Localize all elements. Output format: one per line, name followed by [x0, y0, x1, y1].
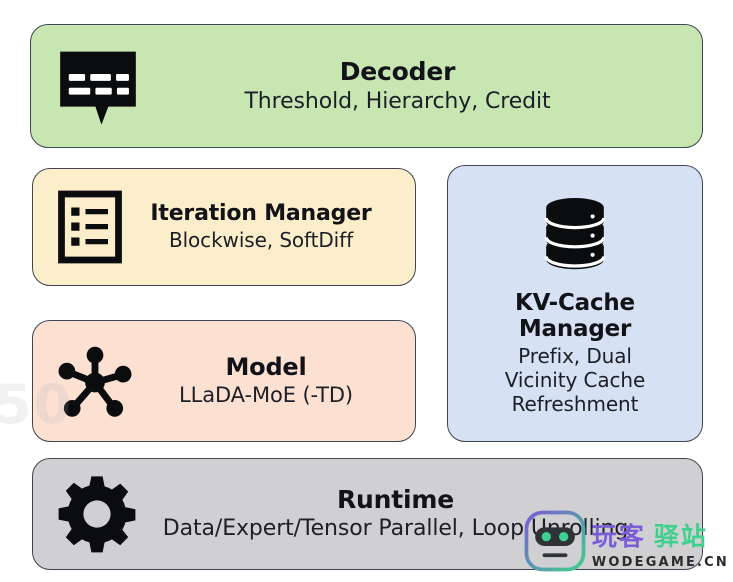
block-kv-cache-manager-text: KV-Cache Manager Prefix, Dual Vicinity C…	[458, 291, 692, 416]
block-kv-cache-manager-subtitle-line-3: Refreshment	[512, 393, 639, 417]
block-iteration-manager-subtitle: Blockwise, SoftDiff	[169, 229, 353, 253]
block-iteration-manager[interactable]: Iteration Manager Blockwise, SoftDiff	[32, 168, 416, 286]
block-iteration-manager-text: Iteration Manager Blockwise, SoftDiff	[123, 202, 399, 252]
block-runtime[interactable]: Runtime Data/Expert/Tensor Parallel, Loo…	[32, 458, 703, 570]
block-iteration-manager-title: Iteration Manager	[150, 202, 371, 227]
block-decoder[interactable]: Decoder Threshold, Hierarchy, Credit	[30, 24, 703, 148]
block-model-title: Model	[225, 354, 306, 381]
block-model-subtitle: LLaDA-MoE (-TD)	[179, 383, 353, 408]
block-runtime-subtitle: Data/Expert/Tensor Parallel, Loop Unroll…	[163, 516, 629, 542]
checklist-icon	[57, 189, 123, 265]
block-decoder-subtitle: Threshold, Hierarchy, Credit	[244, 89, 550, 115]
network-nodes-icon	[57, 341, 133, 421]
block-kv-cache-manager-subtitle-line-2: Vicinity Cache	[505, 369, 645, 393]
block-model[interactable]: Model LLaDA-MoE (-TD)	[32, 320, 416, 442]
block-model-text: Model LLaDA-MoE (-TD)	[133, 354, 399, 408]
block-runtime-text: Runtime Data/Expert/Tensor Parallel, Loo…	[107, 486, 684, 542]
block-decoder-text: Decoder Threshold, Hierarchy, Credit	[111, 58, 684, 115]
block-decoder-title: Decoder	[340, 58, 455, 86]
diagram-canvas: Decoder Threshold, Hierarchy, Credit Ite…	[0, 0, 733, 582]
block-kv-cache-manager[interactable]: KV-Cache Manager Prefix, Dual Vicinity C…	[447, 165, 703, 442]
block-runtime-title: Runtime	[337, 486, 454, 514]
block-kv-cache-manager-subtitle-line-1: Prefix, Dual	[518, 345, 632, 369]
database-icon	[535, 193, 615, 275]
block-kv-cache-manager-title: KV-Cache Manager	[458, 291, 692, 343]
